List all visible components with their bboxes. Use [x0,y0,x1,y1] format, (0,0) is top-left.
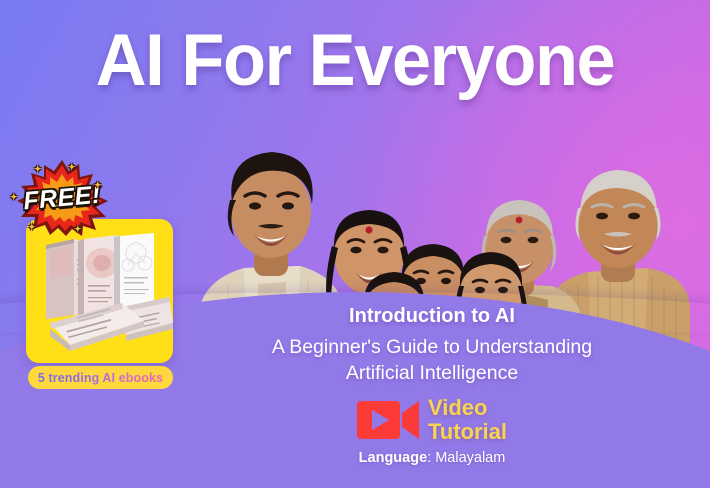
course-subtitle-line1: A Beginner's Guide to Understanding [232,334,632,360]
course-title: Introduction to AI [232,305,632,328]
ebooks-pill-label: 5 trending AI ebooks [38,371,163,385]
course-subtitle-line2: Artificial Intelligence [232,360,632,386]
video-tutorial-row: Video Tutorial [232,396,632,443]
sparkle-icon: ✦ [74,224,82,235]
video-tutorial-line1: Video [428,395,488,420]
sparkle-icon: ✦ [68,162,76,173]
sparkle-icon: ✦ [94,180,102,191]
sparkle-icon: ✦ [10,192,18,203]
promo-poster: AI For Everyone [0,0,710,488]
free-badge[interactable]: FREE! ✦ ✦ ✦ ✦ ✦ ✦ [8,160,116,236]
list-item [114,233,154,313]
ebook-covers-illustration [26,219,173,363]
video-tutorial-label: Video Tutorial [428,396,507,443]
language-line: Language: Malayalam [232,450,632,466]
course-copy: Introduction to AI A Beginner's Guide to… [232,305,632,466]
video-camera-icon [357,399,419,441]
course-subtitle: A Beginner's Guide to Understanding Arti… [232,334,632,386]
ebook-covers [26,219,173,363]
ebooks-pill[interactable]: 5 trending AI ebooks [28,366,173,389]
free-badge-label: FREE! [5,155,119,240]
language-separator: : [427,450,435,466]
language-label: Language [359,450,427,466]
video-tutorial-line2: Tutorial [428,419,507,444]
page-title: AI For Everyone [12,24,697,97]
language-value: Malayalam [435,450,505,466]
sparkle-icon: ✦ [28,222,36,233]
ebooks-card[interactable] [26,219,173,363]
sparkle-icon: ✦ [34,164,42,175]
